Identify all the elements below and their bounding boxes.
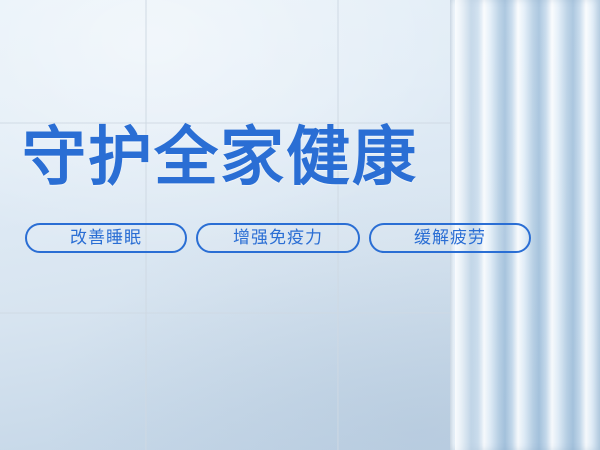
page-title: 守护全家健康 [22,122,418,192]
benefit-tag-boost-immunity[interactable]: 增强免疫力 [196,223,360,253]
benefit-tag-relieve-fatigue[interactable]: 缓解疲劳 [369,223,531,253]
health-promo-banner: 守护全家健康 改善睡眠 增强免疫力 缓解疲劳 [0,0,600,450]
benefit-tag-improve-sleep[interactable]: 改善睡眠 [25,223,187,253]
banner-content: 守护全家健康 改善睡眠 增强免疫力 缓解疲劳 [0,0,600,450]
benefit-tag-list: 改善睡眠 增强免疫力 缓解疲劳 [25,223,531,253]
